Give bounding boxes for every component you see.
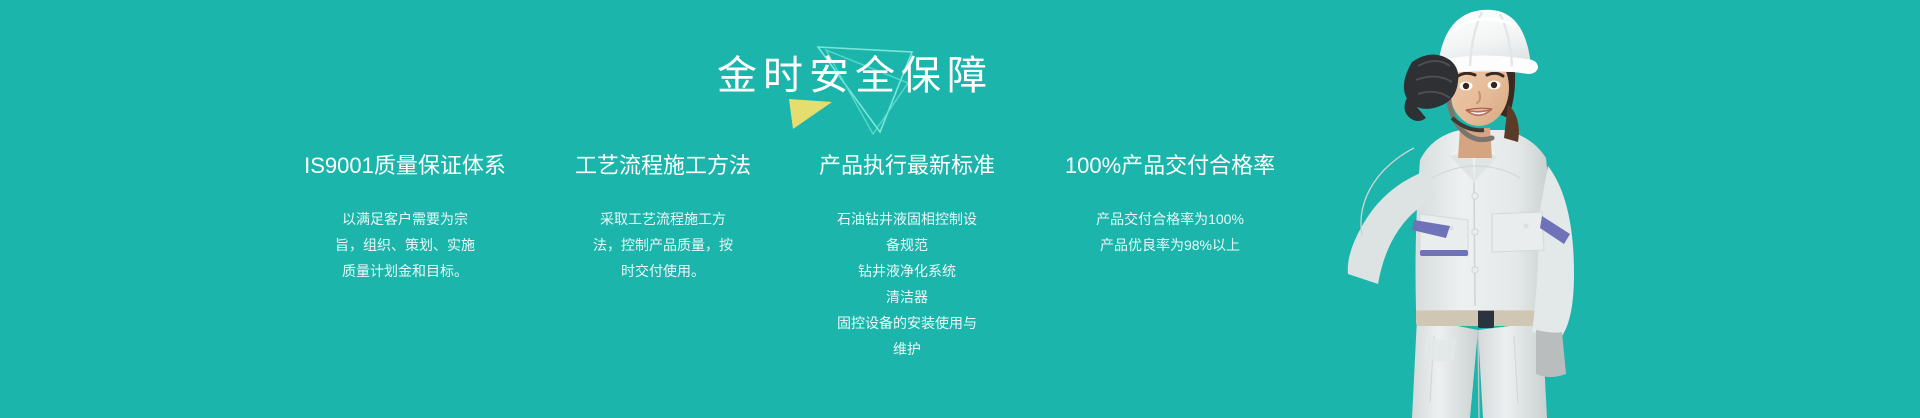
worker-trousers <box>1412 318 1547 418</box>
feature-title: IS9001质量保证体系 <box>285 152 525 180</box>
feature-body-line: 备规范 <box>817 232 997 258</box>
feature-body-line: 清洁器 <box>817 284 997 310</box>
feature-body: 采取工艺流程施工方 法，控制产品质量，按 时交付使用。 <box>557 206 769 284</box>
feature-column-iso-quality: IS9001质量保证体系 以满足客户需要为宗 旨，组织、策划、实施 质量计划金和… <box>285 152 525 284</box>
worker-photo <box>1342 0 1678 418</box>
feature-body-line: 法，控制产品质量，按 <box>579 232 747 258</box>
feature-body: 以满足客户需要为宗 旨，组织、策划、实施 质量计划金和目标。 <box>285 206 525 284</box>
feature-title: 100%产品交付合格率 <box>1045 152 1295 180</box>
feature-body-line: 采取工艺流程施工方 <box>579 206 747 232</box>
feature-body-line: 时交付使用。 <box>579 258 747 284</box>
feature-body-line: 固控设备的安装使用与 <box>817 310 997 336</box>
feature-body-line: 产品交付合格率为100% <box>1055 206 1285 232</box>
feature-column-process-method: 工艺流程施工方法 采取工艺流程施工方 法，控制产品质量，按 时交付使用。 <box>557 152 769 284</box>
feature-columns: IS9001质量保证体系 以满足客户需要为宗 旨，组织、策划、实施 质量计划金和… <box>285 152 1295 362</box>
feature-title: 工艺流程施工方法 <box>557 152 769 180</box>
feature-column-latest-standard: 产品执行最新标准 石油钻井液固相控制设 备规范 钻井液净化系统 清洁器 固控设备… <box>801 152 1013 362</box>
feature-title: 产品执行最新标准 <box>801 152 1013 180</box>
feature-body-line: 旨，组织、策划、实施 <box>313 232 497 258</box>
feature-body-line: 钻井液净化系统 <box>817 258 997 284</box>
feature-column-delivery-rate: 100%产品交付合格率 产品交付合格率为100% 产品优良率为98%以上 <box>1045 152 1295 258</box>
feature-body-line: 以满足客户需要为宗 <box>313 206 497 232</box>
safety-guarantee-banner: 金时安全保障 IS9001质量保证体系 以满足客户需要为宗 旨，组织、策划、实施… <box>0 0 1920 418</box>
feature-body-line: 质量计划金和目标。 <box>313 258 497 284</box>
feature-body-line: 维护 <box>817 336 997 362</box>
feature-body-line: 产品优良率为98%以上 <box>1055 232 1285 258</box>
yellow-wedge-icon <box>789 99 832 129</box>
feature-body: 石油钻井液固相控制设 备规范 钻井液净化系统 清洁器 固控设备的安装使用与 维护 <box>801 206 1013 362</box>
feature-body-line: 石油钻井液固相控制设 <box>817 206 997 232</box>
feature-body: 产品交付合格率为100% 产品优良率为98%以上 <box>1045 206 1295 258</box>
